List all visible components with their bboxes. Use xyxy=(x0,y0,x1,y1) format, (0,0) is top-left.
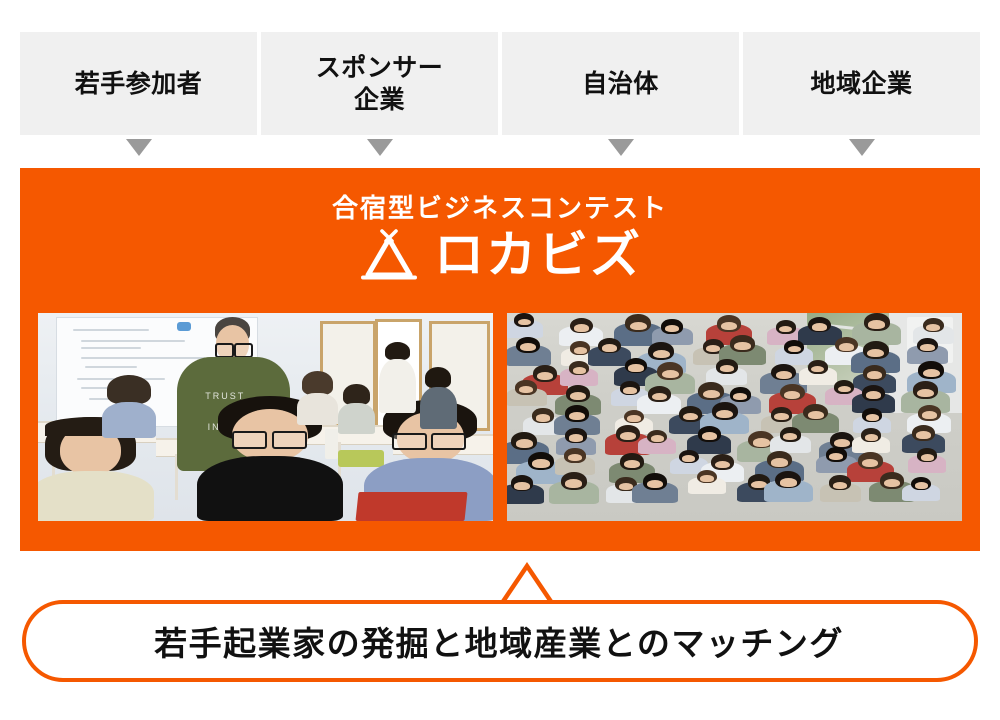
crowd-person-face xyxy=(516,439,533,448)
callout-text: 若手起業家の発掘と地域産業とのマッチング xyxy=(20,600,978,682)
crowd-person-face xyxy=(706,345,720,352)
crowd-person-face xyxy=(628,364,643,372)
crowd-person-face xyxy=(569,434,583,441)
stakeholder-label-line: 若手参加者 xyxy=(75,68,203,100)
arrow-cell xyxy=(502,139,739,163)
crowd-person-face xyxy=(570,392,586,400)
crowd-person-face xyxy=(838,386,851,393)
crowd-person-face xyxy=(865,434,878,441)
crowd-person-face xyxy=(602,344,617,352)
crowd-person-face xyxy=(702,432,717,440)
crowd-person-face xyxy=(651,435,664,442)
crowd-person-face xyxy=(734,342,750,350)
crowd-person-face xyxy=(917,389,934,398)
crowd-person-face xyxy=(868,320,885,329)
stakeholder-box-municipality[interactable]: 自治体 xyxy=(502,32,739,135)
crowd-person-face xyxy=(653,350,670,359)
crowd-person-face xyxy=(518,319,531,326)
crowd-person-face xyxy=(920,344,934,351)
crowd-person-face xyxy=(926,324,940,331)
crowd-person-face xyxy=(565,479,582,488)
crowd-person-face xyxy=(620,432,636,440)
crowd-person-face xyxy=(923,369,940,378)
crowd-person-face xyxy=(916,431,931,439)
stakeholder-box-sponsor-company[interactable]: スポンサー 企業 xyxy=(261,32,498,135)
triangle-down-icon xyxy=(608,139,634,156)
crowd-person-face xyxy=(537,372,553,380)
crowd-person-face xyxy=(624,460,640,468)
crowd-person-face xyxy=(569,412,585,420)
crowd-person-face xyxy=(833,482,847,489)
stakeholder-box-local-company[interactable]: 地域企業 xyxy=(743,32,980,135)
crowd-person-face xyxy=(753,438,770,447)
crowd-person-face xyxy=(619,483,633,490)
orange-banner: 合宿型ビジネスコンテスト ロカビズ xyxy=(20,168,980,551)
crowd-person-face xyxy=(780,478,797,487)
crowd-person-face xyxy=(716,410,733,419)
callout: 若手起業家の発掘と地域産業とのマッチング xyxy=(20,562,982,686)
stakeholder-box-row: 若手参加者 スポンサー 企業 自治体 地域企業 xyxy=(20,32,980,135)
crowd-person-face xyxy=(884,479,900,487)
crowd-person-face xyxy=(519,386,533,393)
arrow-cell xyxy=(261,139,498,163)
crowd-person-face xyxy=(665,325,679,332)
crowd-person-face xyxy=(683,413,698,421)
triangle-down-icon xyxy=(126,139,152,156)
crowd-person-face xyxy=(922,411,937,419)
crowd-person-face xyxy=(682,455,695,462)
crowd-person-face xyxy=(630,322,647,331)
crowd-person-face xyxy=(834,439,850,447)
stakeholder-label-line: スポンサー xyxy=(316,52,444,84)
banner-title: 合宿型ビジネスコンテスト xyxy=(20,188,980,225)
arrow-row xyxy=(20,139,980,163)
crowd-person-face xyxy=(808,411,824,419)
crowd-person-face xyxy=(647,480,663,488)
crowd-person-face xyxy=(839,343,854,351)
crowd-person-face xyxy=(866,391,881,399)
logo-wordmark: ロカビズ xyxy=(434,230,642,280)
crowd-person-face xyxy=(867,349,884,358)
stakeholder-label-line: 自治体 xyxy=(582,68,659,100)
crowd-person-face xyxy=(774,413,788,420)
crowd-person-face xyxy=(862,459,878,467)
crowd-person-face xyxy=(652,393,667,401)
crowd-person-face xyxy=(700,475,713,482)
crowd-person-face xyxy=(915,482,928,489)
crowd-group xyxy=(507,313,962,521)
crowd-person-face xyxy=(573,367,586,374)
crowd-person-face xyxy=(784,391,800,399)
triangle-down-icon xyxy=(849,139,875,156)
crowd-person-face xyxy=(627,415,640,422)
tent-icon xyxy=(358,227,420,283)
crowd-person-face xyxy=(867,371,882,379)
stakeholder-label-line: 企業 xyxy=(316,84,444,116)
crowd-person-face xyxy=(866,414,879,421)
group-photo xyxy=(507,313,962,521)
crowd-person-face xyxy=(921,454,934,461)
crowd-person-face xyxy=(720,365,734,372)
photo-pair: TRUST INT xyxy=(38,313,962,521)
crowd-person-face xyxy=(788,346,801,353)
triangle-down-icon xyxy=(367,139,393,156)
crowd-person-face xyxy=(812,323,827,331)
arrow-cell xyxy=(743,139,980,163)
crowd-person-face xyxy=(703,390,720,399)
stakeholder-label-line: 地域企業 xyxy=(810,68,912,100)
crowd-person-face xyxy=(532,459,549,468)
crowd-person-face xyxy=(514,482,529,490)
crowd-person-face xyxy=(776,371,792,379)
logo-lockup: ロカビズ xyxy=(20,226,980,284)
stakeholder-box-young-participants[interactable]: 若手参加者 xyxy=(20,32,257,135)
workshop-photo: TRUST INT xyxy=(38,313,493,521)
arrow-cell xyxy=(20,139,257,163)
crowd-person-face xyxy=(574,324,589,332)
crowd-person-face xyxy=(623,387,636,394)
crowd-person-face xyxy=(721,322,737,330)
crowd-person-face xyxy=(574,347,587,354)
crowd-person-face xyxy=(771,458,788,467)
laptop xyxy=(355,492,467,521)
crowd-person-face xyxy=(662,370,679,379)
crowd-person-face xyxy=(536,414,550,421)
